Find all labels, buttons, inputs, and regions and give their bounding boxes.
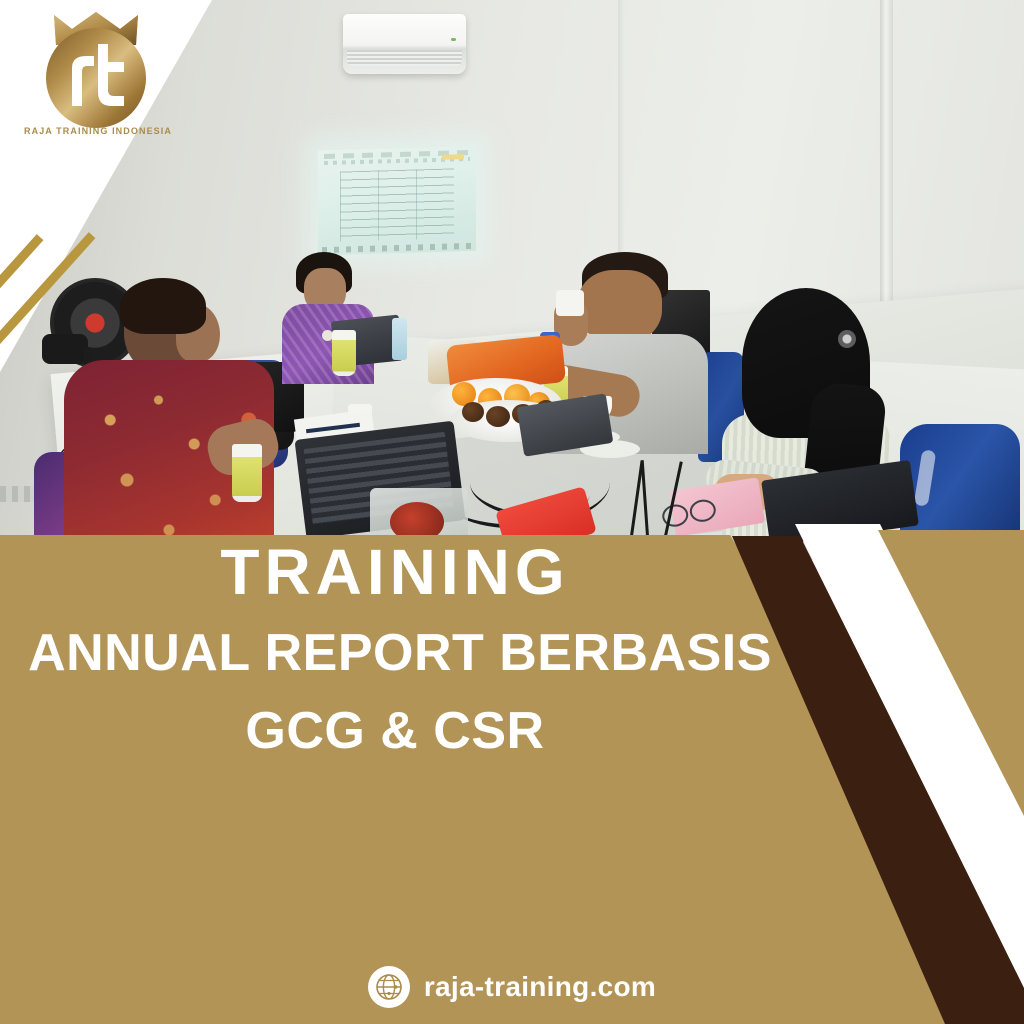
banner-title-line-1: ANNUAL REPORT BERBASIS	[0, 625, 800, 681]
water-bottle	[392, 318, 407, 360]
black-sticks	[620, 460, 700, 530]
gray-holding-cup	[556, 290, 584, 316]
footer-website[interactable]: raja-training.com	[0, 955, 1024, 1019]
brand-logo[interactable]: RAJA TRAINING INDONESIA	[18, 10, 178, 138]
aircon-led	[451, 38, 456, 41]
drink-cup-1	[332, 330, 356, 376]
projector-screen	[318, 146, 476, 255]
screen-highlight-cell	[442, 154, 464, 160]
rt-monogram-icon	[46, 28, 146, 128]
aircon-vent	[347, 50, 462, 66]
drink-glass-4	[232, 444, 262, 502]
globe-icon	[368, 966, 410, 1008]
air-conditioner-icon	[343, 14, 466, 74]
poster-canvas: RAJA TRAINING INDONESIA TRAINING ANNUAL …	[0, 0, 1024, 1024]
dark-snack-2	[486, 406, 510, 427]
website-url: raja-training.com	[424, 971, 656, 1003]
hijab-pin	[838, 330, 856, 348]
gray-face	[578, 270, 662, 344]
screen-spreadsheet-grid	[340, 168, 454, 241]
banner-title-line-2: GCG & CSR	[0, 703, 790, 759]
dark-snack-1	[462, 402, 484, 422]
banner-kicker: TRAINING	[0, 540, 790, 604]
logo-wordmark: RAJA TRAINING INDONESIA	[18, 126, 178, 136]
participant-batik-shirt	[58, 282, 273, 560]
batik-hair	[120, 278, 206, 334]
